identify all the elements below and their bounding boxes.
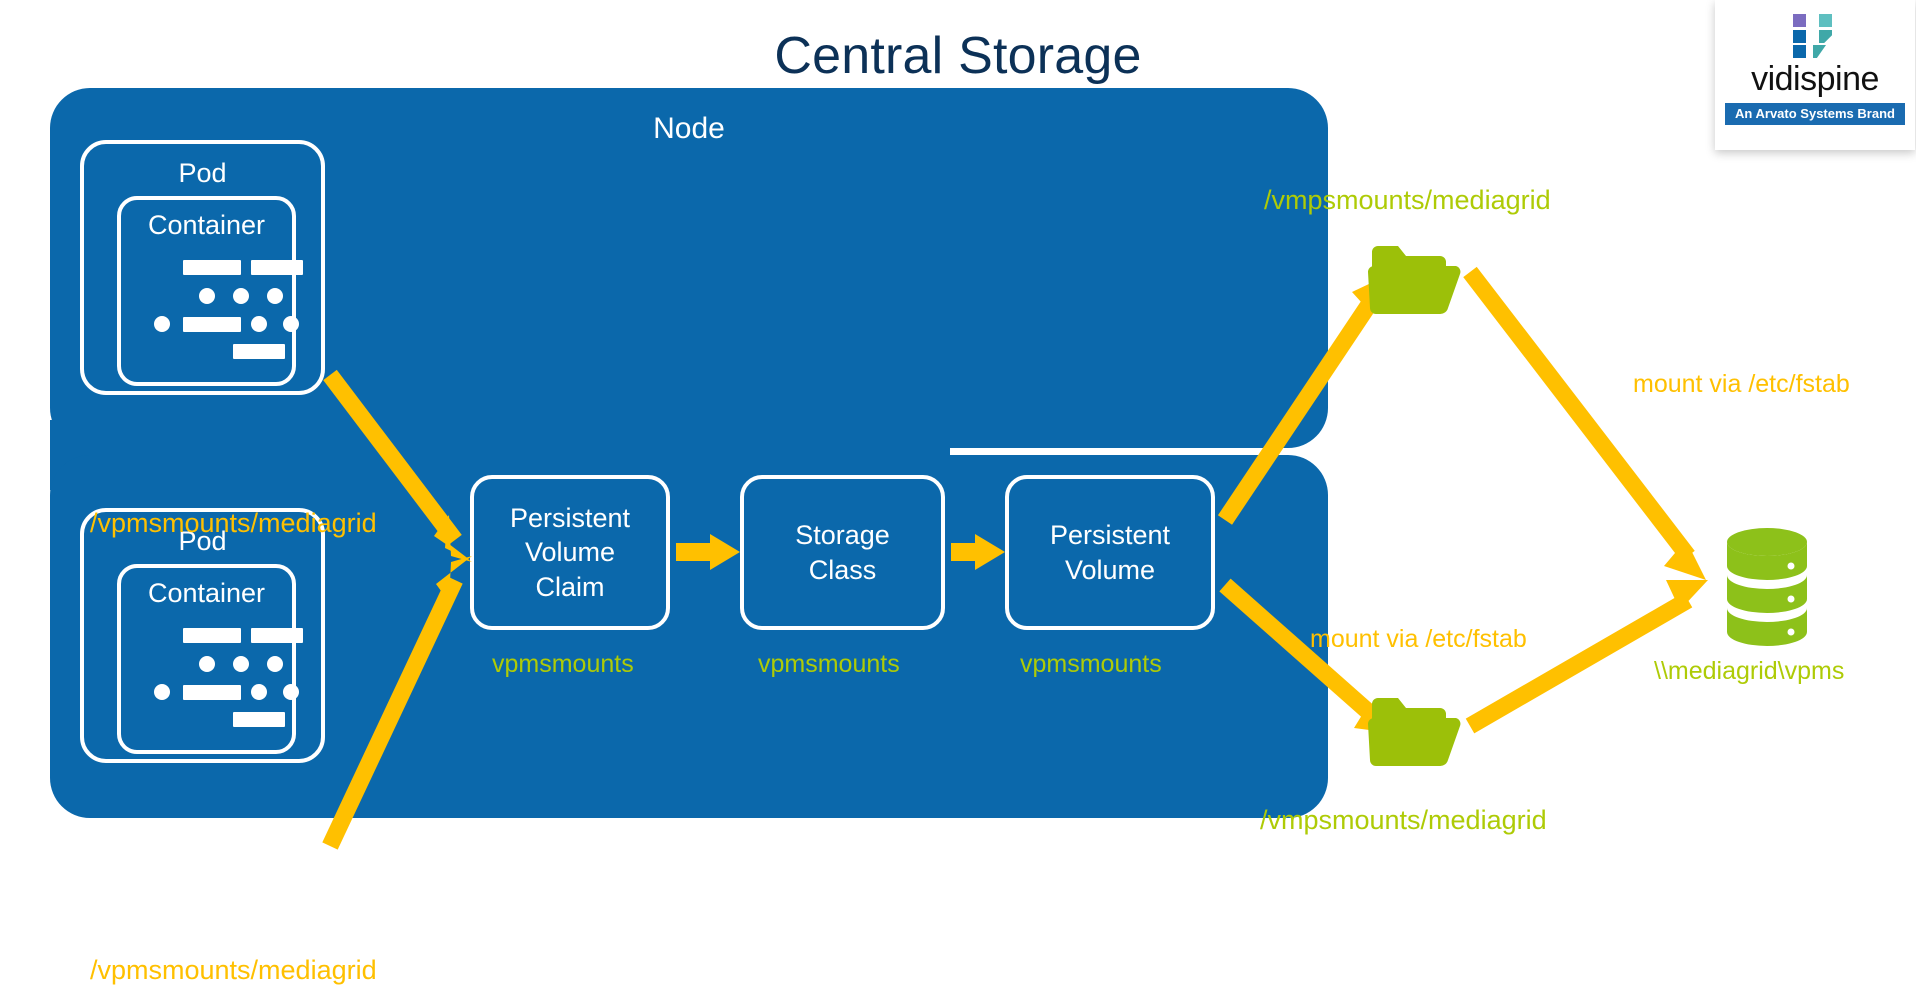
vidispine-logo-mark-icon xyxy=(1793,14,1837,58)
folder-bottom-path-label: /vmpsmounts/mediagrid xyxy=(1260,805,1547,836)
page-title: Central Storage xyxy=(0,26,1916,86)
pod-2-container-label: Container xyxy=(121,578,292,609)
share-path-label: \\mediagrid\vpms xyxy=(1654,657,1844,686)
vidispine-logo: vidispine An Arvato Systems Brand xyxy=(1715,0,1915,150)
persistent-volume-box: Persistent Volume xyxy=(1005,475,1215,630)
folder-top-path-label: /vmpsmounts/mediagrid xyxy=(1264,185,1551,216)
persistent-volume-sublabel: vpmsmounts xyxy=(1020,650,1162,679)
container-glyph-icon xyxy=(151,260,279,352)
storage-class-box: Storage Class xyxy=(740,475,945,630)
mount-note-top: mount via /etc/fstab xyxy=(1633,370,1850,399)
logo-wordmark: vidispine xyxy=(1751,62,1879,96)
mount-note-bottom: mount via /etc/fstab xyxy=(1310,625,1527,654)
pod-1: Pod Container xyxy=(80,140,325,395)
container-glyph-icon xyxy=(151,628,279,720)
folder-bottom-icon xyxy=(1368,698,1460,766)
pod-2: Pod Container xyxy=(80,508,325,763)
pod-1-container-label: Container xyxy=(121,210,292,241)
folder-top-icon xyxy=(1368,246,1460,314)
pod-1-container: Container xyxy=(117,196,296,386)
storage-class-sublabel: vpmsmounts xyxy=(758,650,900,679)
pod-2-container: Container xyxy=(117,564,296,754)
logo-tagline: An Arvato Systems Brand xyxy=(1725,103,1905,125)
pod-1-label: Pod xyxy=(84,158,321,189)
pvc-sublabel: vpmsmounts xyxy=(492,650,634,679)
diagram-canvas: Central Storage vidispine An Arvato Syst… xyxy=(0,0,1916,1004)
pod-1-path-label: /vpmsmounts/mediagrid xyxy=(90,508,377,539)
arrow-folder-top-to-database xyxy=(1470,272,1706,580)
database-icon xyxy=(1727,528,1807,646)
persistent-volume-claim-box: Persistent Volume Claim xyxy=(470,475,670,630)
pod-2-path-label: /vpmsmounts/mediagrid xyxy=(90,955,377,986)
